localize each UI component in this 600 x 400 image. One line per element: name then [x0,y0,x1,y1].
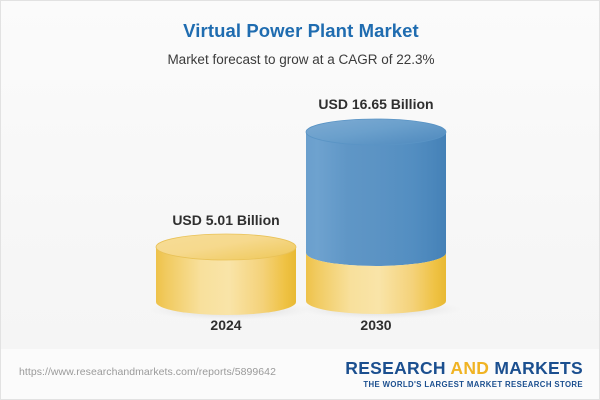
research-and-markets-logo: RESEARCH AND MARKETS THE WORLD'S LARGEST… [345,358,583,389]
logo-word-markets: MARKETS [494,358,583,378]
category-label-2030: 2030 [276,316,476,334]
logo-wordmark: RESEARCH AND MARKETS [345,358,583,378]
chart-plot-area: USD 5.01 Billion [1,1,600,349]
chart-frame: Virtual Power Plant Market Market foreca… [0,0,600,400]
logo-tagline: THE WORLD'S LARGEST MARKET RESEARCH STOR… [345,380,583,389]
bar-cylinder-2030 [276,111,476,321]
logo-word-research: RESEARCH [345,358,450,378]
logo-word-and: AND [450,358,494,378]
chart-footer: https://www.researchandmarkets.com/repor… [1,349,599,399]
report-url[interactable]: https://www.researchandmarkets.com/repor… [19,366,276,378]
